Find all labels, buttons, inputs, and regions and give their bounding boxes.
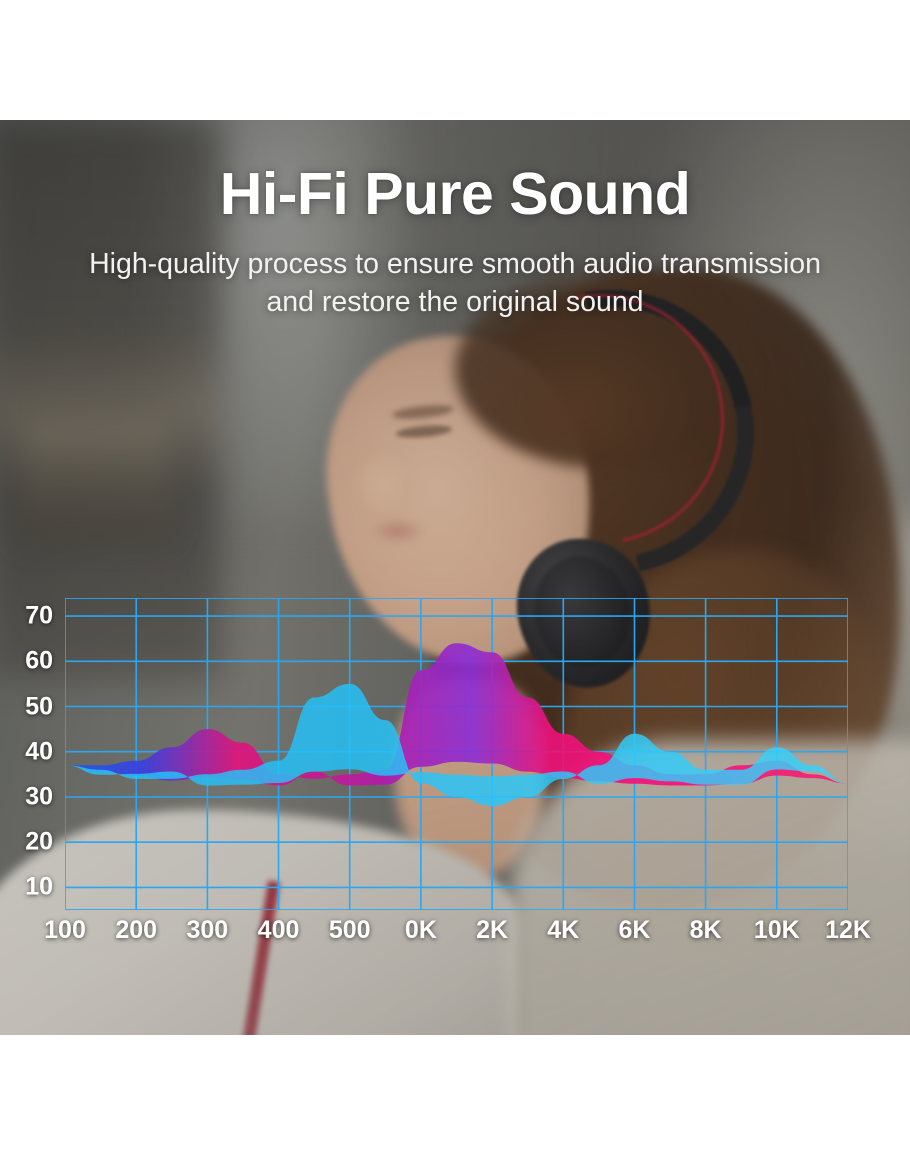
page-root: Hi-Fi Pure Sound High-quality process to…: [0, 0, 910, 1155]
x-axis-tick: 400: [258, 916, 300, 945]
y-axis-tick: 50: [25, 692, 53, 721]
y-axis-tick: 70: [25, 602, 53, 631]
y-axis-tick: 30: [25, 782, 53, 811]
x-axis-tick: 500: [329, 916, 371, 945]
x-axis-tick: 100: [44, 916, 86, 945]
x-axis-tick: 200: [115, 916, 157, 945]
x-axis-tick: 8K: [690, 916, 722, 945]
x-axis-tick: 300: [187, 916, 229, 945]
x-axis-tick: 4K: [547, 916, 579, 945]
x-axis-tick: 0K: [405, 916, 437, 945]
chart-plot-area: [65, 598, 848, 910]
chart-waveforms: [65, 598, 848, 910]
y-axis-tick: 20: [25, 828, 53, 857]
frequency-response-chart: 70605040302010: [0, 580, 910, 1010]
hero-banner: Hi-Fi Pure Sound High-quality process to…: [0, 120, 910, 1035]
y-axis-tick: 10: [25, 873, 53, 902]
y-axis-tick: 60: [25, 647, 53, 676]
y-axis-labels: 70605040302010: [0, 598, 58, 910]
y-axis-tick: 40: [25, 737, 53, 766]
x-axis-labels: 1002003004005000K2K4K6K8K10K12K: [65, 916, 848, 950]
x-axis-tick: 10K: [754, 916, 800, 945]
x-axis-tick: 6K: [618, 916, 650, 945]
x-axis-tick: 2K: [476, 916, 508, 945]
x-axis-tick: 12K: [825, 916, 871, 945]
